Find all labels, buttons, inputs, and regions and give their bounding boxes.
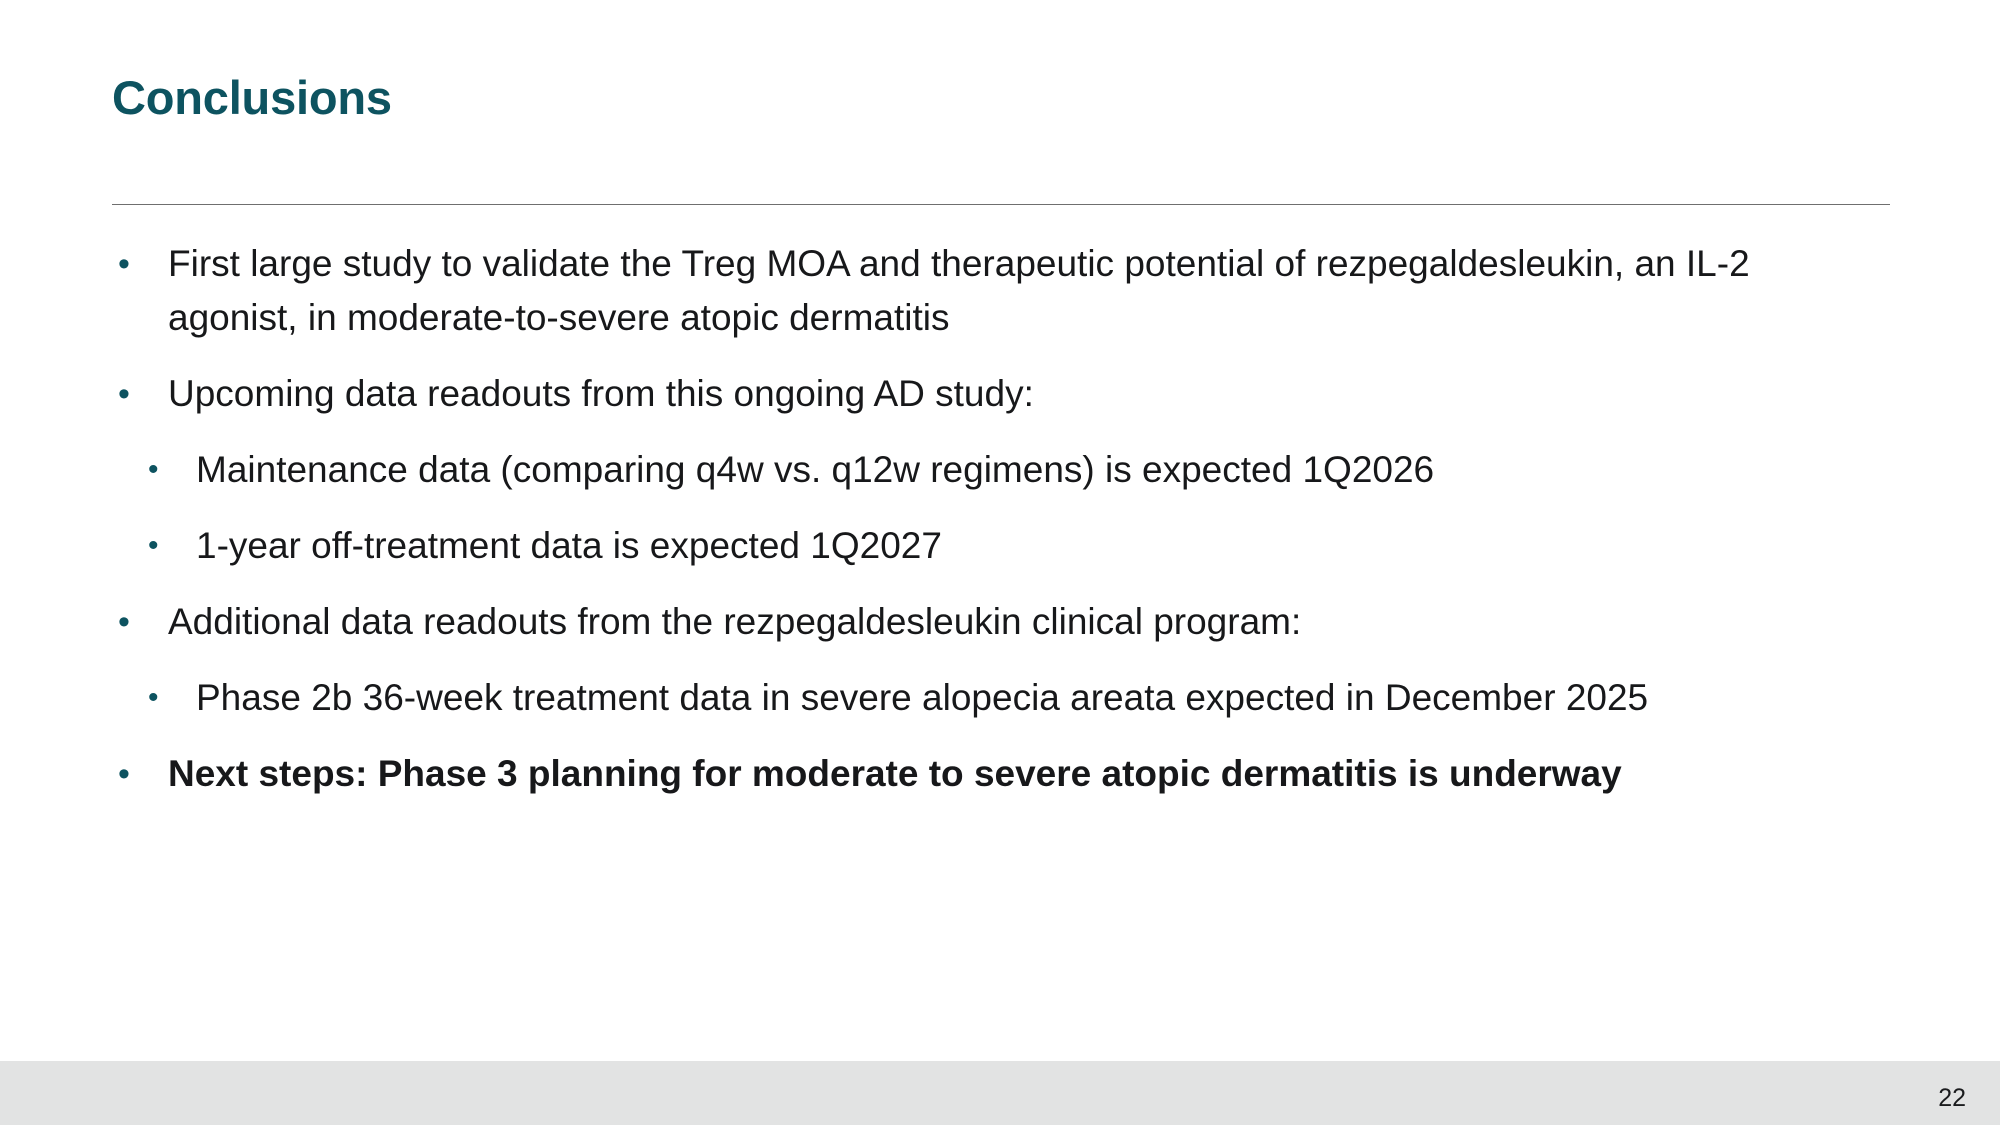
list-item-label: First large study to validate the Treg M… bbox=[168, 237, 1788, 345]
bullet-marker-icon: • bbox=[112, 237, 168, 291]
slide: Conclusions • First large study to valid… bbox=[0, 0, 2000, 1125]
list-item: • Phase 2b 36-week treatment data in sev… bbox=[112, 671, 1912, 725]
list-item-label: Next steps: Phase 3 planning for moderat… bbox=[168, 747, 1622, 801]
footer-bar bbox=[0, 1061, 2000, 1125]
page-title: Conclusions bbox=[112, 72, 392, 124]
bullet-marker-icon: • bbox=[140, 519, 196, 573]
list-item-label: Phase 2b 36-week treatment data in sever… bbox=[196, 671, 1648, 725]
list-item-label: Upcoming data readouts from this ongoing… bbox=[168, 367, 1034, 421]
bullet-list: • First large study to validate the Treg… bbox=[112, 237, 1912, 823]
bullet-marker-icon: • bbox=[140, 443, 196, 497]
bullet-marker-icon: • bbox=[112, 595, 168, 649]
list-item: • Maintenance data (comparing q4w vs. q1… bbox=[112, 443, 1912, 497]
list-item: • First large study to validate the Treg… bbox=[112, 237, 1912, 345]
bullet-marker-icon: • bbox=[140, 671, 196, 725]
list-item: • Upcoming data readouts from this ongoi… bbox=[112, 367, 1912, 421]
list-item-label: Maintenance data (comparing q4w vs. q12w… bbox=[196, 443, 1434, 497]
list-item-label: 1-year off-treatment data is expected 1Q… bbox=[196, 519, 942, 573]
page-number: 22 bbox=[1938, 1086, 1966, 1111]
list-item: • 1-year off-treatment data is expected … bbox=[112, 519, 1912, 573]
bullet-marker-icon: • bbox=[112, 747, 168, 801]
bullet-marker-icon: • bbox=[112, 367, 168, 421]
title-divider bbox=[112, 204, 1890, 205]
list-item: • Additional data readouts from the rezp… bbox=[112, 595, 1912, 649]
list-item: • Next steps: Phase 3 planning for moder… bbox=[112, 747, 1912, 801]
list-item-label: Additional data readouts from the rezpeg… bbox=[168, 595, 1301, 649]
